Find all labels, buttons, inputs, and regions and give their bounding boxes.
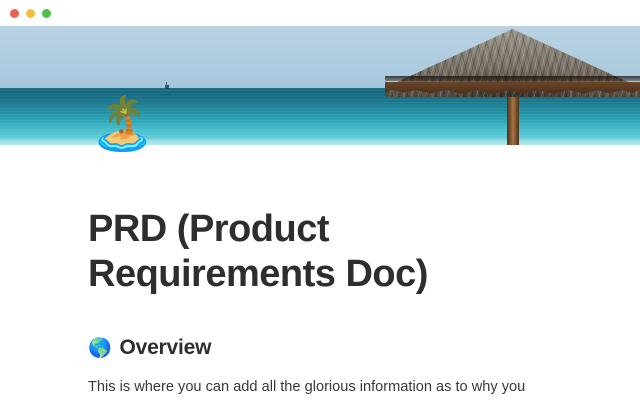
horizon-boat: [165, 85, 169, 89]
section-heading-overview[interactable]: 🌎 Overview: [88, 297, 545, 361]
close-window-button[interactable]: [10, 9, 19, 18]
desert-island-icon[interactable]: 🏝️: [90, 98, 155, 150]
palapa-umbrella: [385, 26, 640, 145]
app-window: 🏝️ PRD (Product Requirements Doc) 🌎 Over…: [0, 0, 640, 400]
section-body-overview[interactable]: This is where you can add all the glorio…: [88, 361, 545, 400]
palapa-band: [385, 76, 640, 81]
window-controls: [10, 9, 51, 18]
maximize-window-button[interactable]: [42, 9, 51, 18]
page-title[interactable]: PRD (Product Requirements Doc): [88, 145, 545, 297]
minimize-window-button[interactable]: [26, 9, 35, 18]
document-page: PRD (Product Requirements Doc) 🌎 Overvie…: [0, 145, 640, 400]
title-bar: [0, 0, 640, 26]
earth-americas-icon: 🌎: [88, 337, 111, 361]
section-heading-label: Overview: [119, 335, 211, 361]
